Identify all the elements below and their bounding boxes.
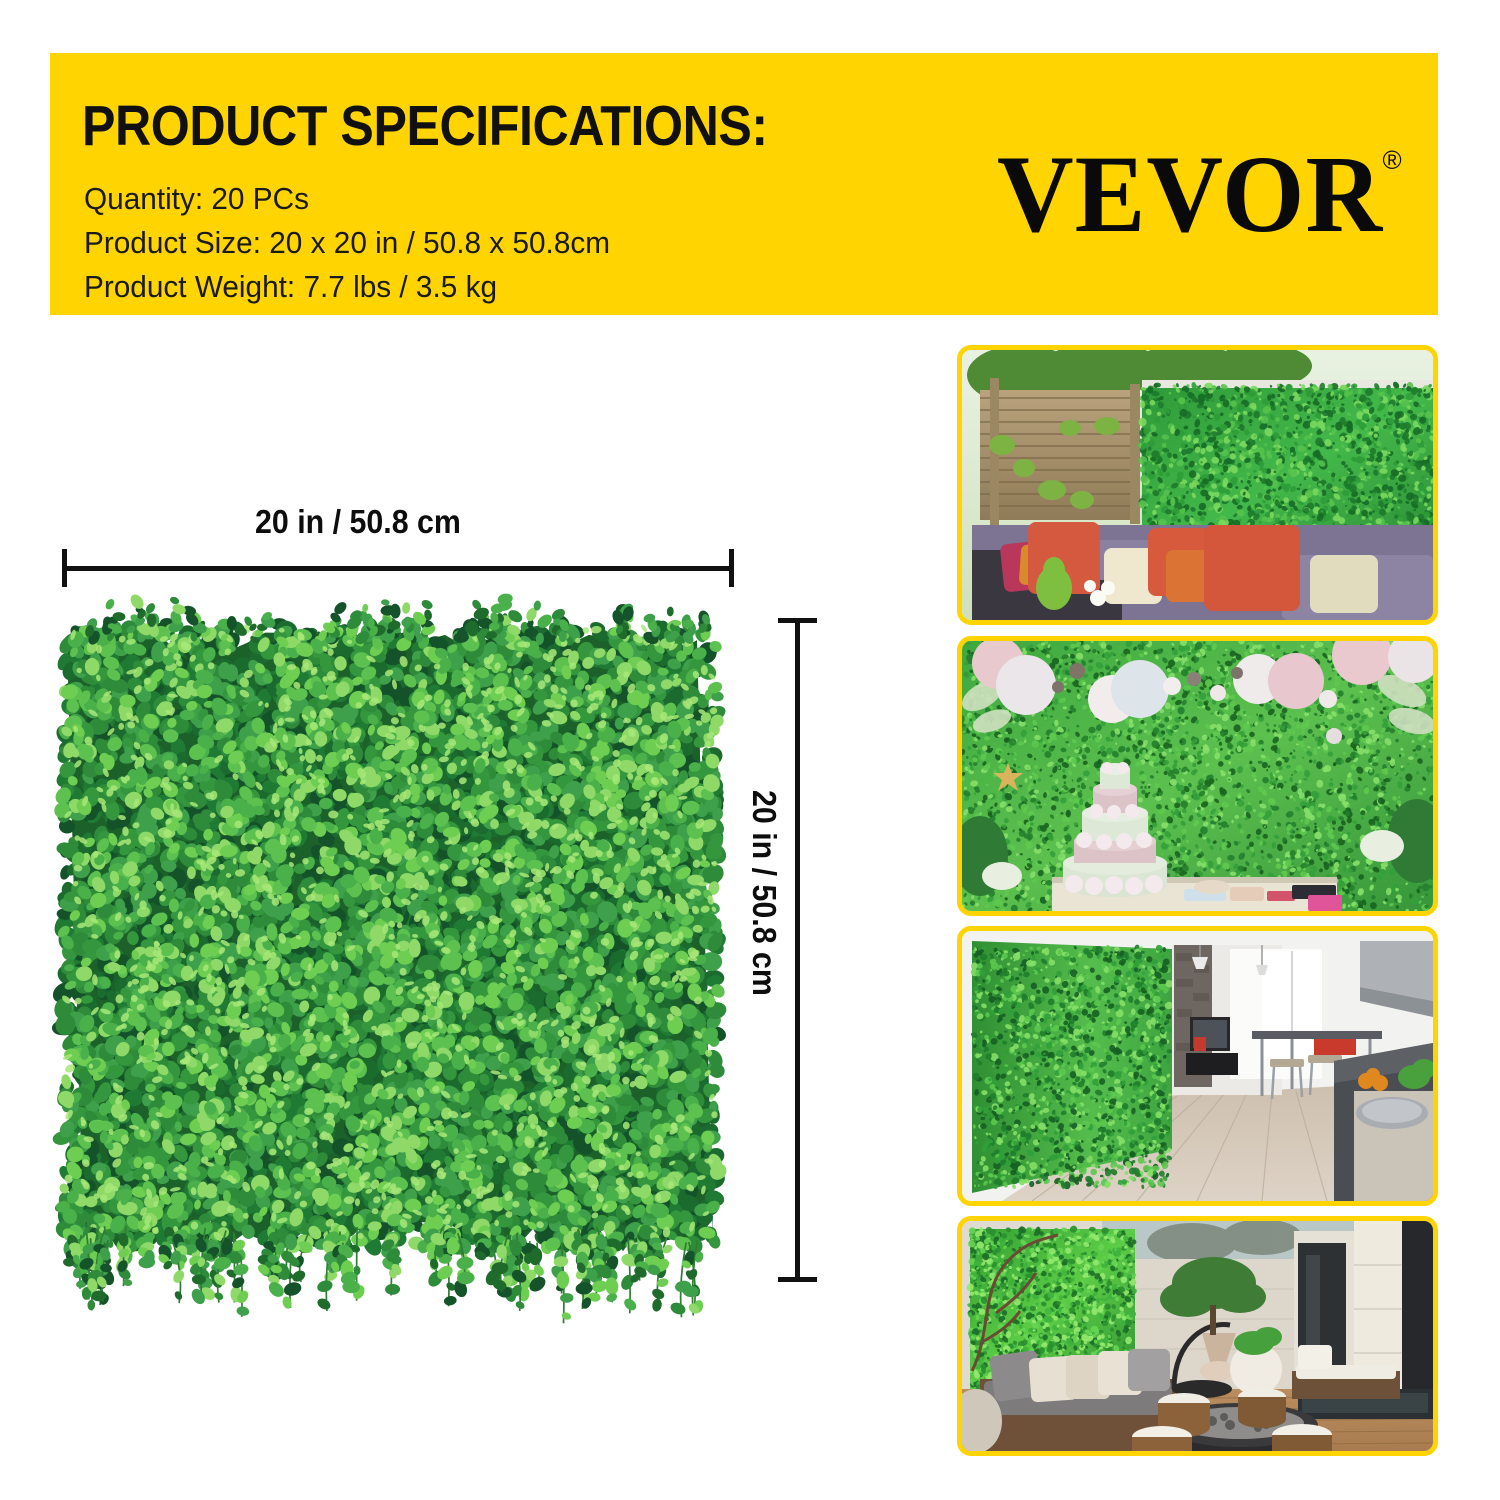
product-image-hedge-panel [45,600,735,1312]
specifications-banner: PRODUCT SPECIFICATIONS: Quantity: 20 PCs… [50,53,1438,315]
width-dimension-line [62,566,733,571]
lifestyle-photo-party-cake-backdrop [957,636,1438,916]
spec-product-weight: Product Weight: 7.7 lbs / 3.5 kg [84,265,610,309]
height-dimension-line [795,620,800,1280]
spec-quantity: Quantity: 20 PCs [84,177,610,221]
lifestyle-photo-outdoor-patio-sofa [957,345,1438,625]
height-dimension-cap-top [778,618,817,623]
width-dimension-cap-right [729,549,734,587]
registered-trademark-icon: ® [1383,147,1402,173]
product-infographic-page: PRODUCT SPECIFICATIONS: Quantity: 20 PCs… [0,0,1500,1500]
spec-product-size: Product Size: 20 x 20 in / 50.8 x 50.8cm [84,221,610,265]
width-dimension-label: 20 in / 50.8 cm [255,503,461,541]
height-dimension-label: 20 in / 50.8 cm [745,790,783,996]
page-title: PRODUCT SPECIFICATIONS: [82,93,768,159]
lifestyle-photo-modern-interior-kitchen [957,926,1438,1206]
lifestyle-photo-courtyard-fire-pit [957,1216,1438,1456]
vevor-logo: VEVOR ® [997,141,1402,243]
vevor-wordmark: VEVOR [997,141,1383,249]
specifications-list: Quantity: 20 PCs Product Size: 20 x 20 i… [84,177,632,309]
width-dimension-cap-left [62,549,67,587]
height-dimension-cap-bottom [778,1277,817,1282]
